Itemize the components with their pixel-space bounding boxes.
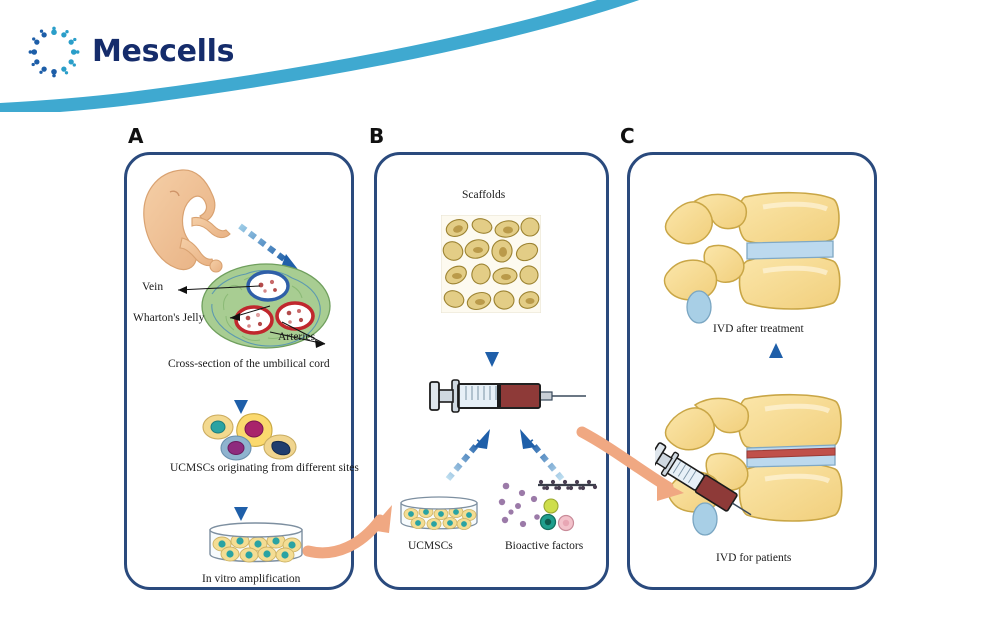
label-scaffolds: Scaffolds (462, 189, 505, 202)
label-vein: Vein (142, 281, 163, 294)
degenerated-spine-injection-icon (655, 385, 860, 550)
brand-name: Mescells (92, 37, 234, 67)
arrow-treatment-result (767, 342, 785, 390)
ucmsc-cell-cluster-icon (198, 412, 302, 464)
arrow-cells-to-dish (232, 480, 250, 522)
header-band: Mescells (0, 0, 1000, 112)
figure-canvas: Mescells A B C (0, 0, 1000, 631)
label-ivd-after-treatment: IVD after treatment (713, 323, 804, 336)
label-ucmscs: UCMSCs (408, 540, 453, 553)
label-arteries: Arteries (278, 331, 315, 344)
label-ucmscs-sites: UCMSCs originating from different sites (170, 462, 359, 475)
ucmsc-petri-dish-icon (396, 494, 482, 538)
panel-label-a: A (128, 124, 143, 148)
porous-scaffold-icon (441, 215, 541, 313)
panel-label-b: B (369, 124, 384, 148)
label-whartons-jelly: Wharton's Jelly (133, 312, 204, 325)
panel-label-c: C (620, 124, 635, 148)
mescells-logo-icon (28, 26, 80, 78)
petri-dish-in-vitro-icon (204, 520, 308, 572)
bioactive-factor-particles-icon (496, 476, 600, 534)
syringe-icon (428, 376, 588, 416)
arrow-scaffold-to-syringe (483, 320, 501, 368)
label-in-vitro: In vitro amplification (202, 573, 300, 586)
label-cross-section: Cross-section of the umbilical cord (168, 358, 330, 371)
healthy-spine-segment-icon (655, 185, 855, 330)
label-ivd-for-patients: IVD for patients (716, 552, 791, 565)
brand-logo[interactable]: Mescells (28, 26, 234, 78)
label-bioactive-factors: Bioactive factors (505, 540, 583, 553)
arrow-cord-to-cells (232, 375, 250, 415)
